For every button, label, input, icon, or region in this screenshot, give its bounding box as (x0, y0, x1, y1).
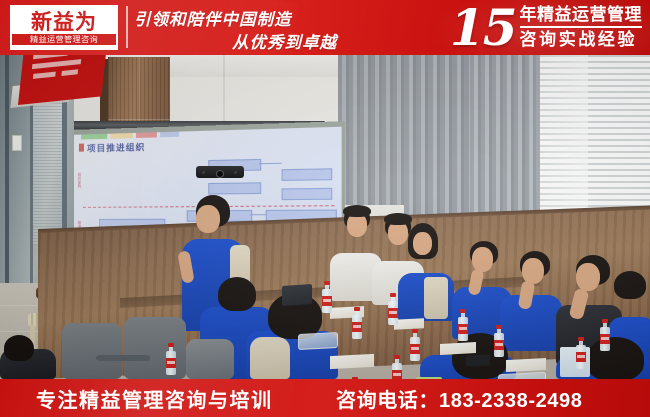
chair-1 (124, 317, 186, 379)
header-slogan: 引领和陪伴中国制造 从优秀到卓越 (134, 4, 384, 52)
camera-lens (216, 170, 224, 178)
notebook-5 (330, 354, 374, 369)
slogan-line-1: 引领和陪伴中国制造 (134, 6, 292, 30)
brand-logo[interactable]: 新益为 精益运营管理咨询 (10, 5, 118, 50)
years-line-1: 年精益运营管理 (520, 4, 643, 26)
years-line-2: 咨询实战经验 (520, 28, 643, 51)
notebook-3 (440, 342, 476, 355)
notebook-2 (394, 318, 424, 330)
logo-tagline-text: 精益运营管理咨询 (12, 34, 116, 45)
experience-badge: 15 年精益运营管理 咨询实战经验 (450, 0, 642, 55)
laptop (282, 284, 312, 306)
footer-banner: 专注精益管理咨询与培训 咨询电话：183-2338-2498 (0, 379, 650, 417)
screenshot-root: 新益为 精益运营管理咨询 引领和陪伴中国制造 从优秀到卓越 15 年精益运营管理… (0, 0, 650, 417)
notebook-4 (506, 358, 546, 372)
glass-tray-1 (298, 332, 338, 350)
slogan-line-2: 从优秀到卓越 (232, 29, 337, 53)
video-camera-bar (196, 166, 244, 178)
years-number: 15 (450, 3, 516, 53)
wall-switch[interactable] (12, 135, 22, 151)
logo-brand-text: 新益为 (31, 11, 97, 33)
chair-2 (62, 323, 122, 379)
header-banner: 新益为 精益运营管理咨询 引领和陪伴中国制造 从优秀到卓越 15 年精益运营管理… (0, 0, 650, 55)
years-text-block: 年精益运营管理 咨询实战经验 (520, 4, 643, 51)
chair-arm-1 (96, 355, 150, 361)
chair-3 (186, 339, 234, 379)
curtain-mid (338, 55, 404, 205)
logo-divider (126, 6, 128, 48)
footer-left-text: 专注精益管理咨询与培训 (36, 384, 273, 413)
footer-phone-text: 咨询电话：183-2338-2498 (336, 384, 582, 413)
meeting-room-photo: 项目推进组织 组织架构 推进小组 执行层级 (0, 55, 650, 379)
smartphone (466, 354, 490, 366)
